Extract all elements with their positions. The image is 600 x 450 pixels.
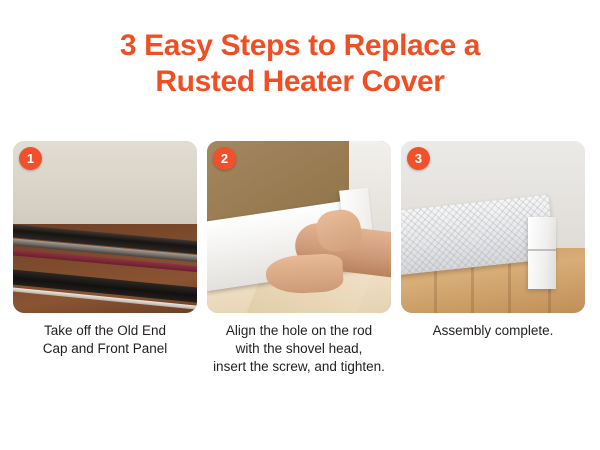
step-1-caption: Take off the Old End Cap and Front Panel [10, 322, 200, 358]
step-3-photo-assembly-complete: 3 [401, 141, 585, 313]
installed-end-cap [528, 217, 556, 289]
step-1-photo-old-rusted-heater: 1 [13, 141, 197, 313]
steps-row: 1 Take off the Old End Cap and Front Pan… [13, 141, 587, 376]
step-2-caption-line-1: Align the hole on the rod [204, 322, 394, 340]
step-2: 2 Align the hole on the rod with the sho… [207, 141, 391, 376]
end-cap-seam [528, 249, 556, 251]
step-1-caption-line-1: Take off the Old End [10, 322, 200, 340]
step-2-caption-line-3: insert the screw, and tighten. [204, 358, 394, 376]
title-line-1: 3 Easy Steps to Replace a [0, 28, 600, 64]
infographic-page: { "title": { "line1": "3 Easy Steps to R… [0, 0, 600, 450]
step-badge-2: 2 [213, 147, 236, 170]
step-badge-3: 3 [407, 147, 430, 170]
step-badge-1: 1 [19, 147, 42, 170]
step-3-caption: Assembly complete. [398, 322, 588, 340]
step-3-caption-line-1: Assembly complete. [398, 322, 588, 340]
step-2-caption-line-2: with the shovel head, [204, 340, 394, 358]
step-3: 3 Assembly complete. [401, 141, 585, 340]
step-1-caption-line-2: Cap and Front Panel [10, 340, 200, 358]
step-2-photo-installing-cover: 2 [207, 141, 391, 313]
step-1: 1 Take off the Old End Cap and Front Pan… [13, 141, 197, 358]
page-title: 3 Easy Steps to Replace a Rusted Heater … [0, 28, 600, 100]
title-line-2: Rusted Heater Cover [0, 64, 600, 100]
step-2-caption: Align the hole on the rod with the shove… [204, 322, 394, 376]
